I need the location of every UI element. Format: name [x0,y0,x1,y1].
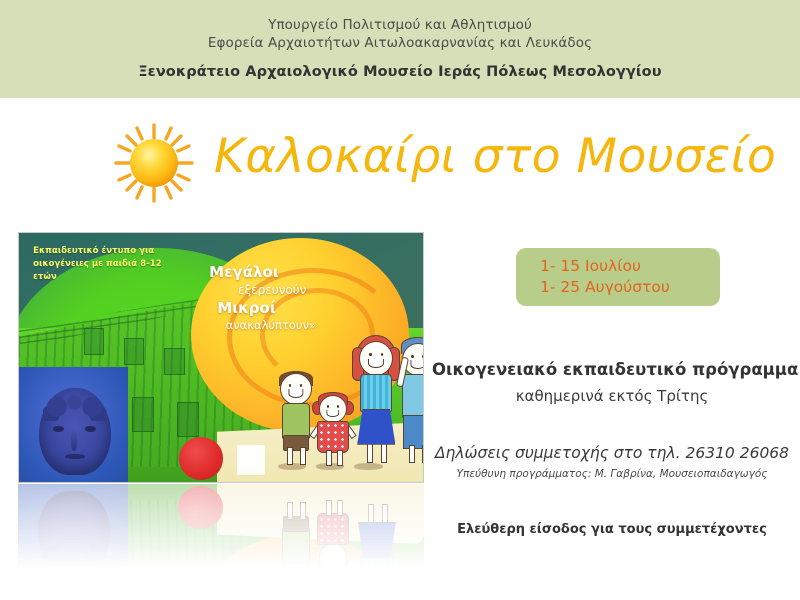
statue-nose [71,430,77,451]
poster-window [164,348,184,375]
figure-eye [300,384,303,387]
poster-slogan-line-1: Μεγάλοι [197,263,403,283]
dates-box: 1- 15 Ιουλίου 1- 25 Αυγούστου [516,248,720,306]
figure-head [359,341,393,376]
program-responsible: Υπεύθυνη προγράμματος: Μ. Γαβρίνα, Μουσε… [432,466,792,482]
poster-corner-text: Εκπαιδευτικό έντυπο για οικογένειες με π… [33,245,178,283]
figure-smile [326,410,339,418]
statue-eye [85,426,96,432]
contact-phone: Δηλώσεις συμμετοχής στο τηλ. 26310 26068 [432,442,792,464]
figure-leg [337,450,343,466]
poster-window [124,338,144,365]
poster-window [177,402,199,437]
figure-smile [410,360,424,369]
poster-figure-girl [314,395,352,467]
poster-figure-mother [350,333,402,465]
figure-body [282,403,310,439]
figure-smile [288,389,303,398]
program-subtitle: καθημερινά εκτός Τρίτης [432,384,792,408]
title-row: Καλοκαίρι στο Μουσείο [0,113,800,208]
free-entry-note: Ελεύθερη είσοδος για τους συμμετέχοντες [432,520,792,540]
poster-slogan-line-4: ανακαλύπτουν» [197,318,403,333]
figure-body [402,374,424,418]
date-line-july: 1- 15 Ιουλίου [540,256,720,277]
poster-artwork: Μεγάλοι εξερευνούν Μικροί ανακαλύπτουν» … [18,232,424,483]
statue-eye [53,426,64,432]
poster-slogan-line-3: Μικροί [197,299,403,319]
poster-red-ball [179,437,223,479]
figure-pants [403,415,424,449]
sun-icon [112,121,196,205]
ephorate-line: Εφορεία Αρχαιοτήτων Αιτωλοακαρνανίας και… [0,35,800,51]
figure-eye [289,384,292,387]
figure-dress [317,421,349,453]
poster-slogan-line-2: εξερευνούν [197,283,403,299]
figure-leg [287,447,293,465]
figure-eye [327,405,330,408]
statue-face [39,388,111,475]
poster-image: Μεγάλοι εξερευνούν Μικροί ανακαλύπτουν» … [18,232,424,483]
figure-leg [422,445,424,463]
figure-eye [422,355,424,358]
figure-head [280,373,312,405]
statue-mouth [65,454,85,458]
figure-leg [326,450,332,466]
statue-hair [43,385,106,422]
figure-leg [300,447,306,465]
header-band: Υπουργείο Πολιτισμού και Αθλητισμού Εφορ… [0,0,800,98]
poster-window [84,328,104,355]
poster-reflection-artwork [18,484,424,580]
info-block: Οικογενειακό εκπαιδευτικό πρόγραμμα καθη… [432,358,792,540]
figure-smile [368,359,384,369]
poster-reflection [18,484,424,580]
figure-eye [381,353,384,356]
figure-body [360,374,392,412]
poster-board-mark [237,445,265,475]
date-line-august: 1- 25 Αυγούστου [540,277,720,298]
poster-slogan: Μεγάλοι εξερευνούν Μικροί ανακαλύπτουν» [197,263,403,334]
figure-eye [369,353,372,356]
figure-head [319,395,347,423]
program-title: Οικογενειακό εκπαιδευτικό πρόγραμμα [432,358,792,382]
poster-statue-head [19,367,128,482]
poster-figure-boy [276,373,316,465]
museum-name: Ξενοκράτειο Αρχαιολογικό Μουσείο Ιεράς Π… [0,64,800,80]
figure-eye [411,355,414,358]
figure-skirt [357,409,395,445]
figure-eye [337,405,340,408]
poster-window [132,397,154,432]
figure-leg [409,445,415,463]
page-title: Καλοκαίρι στο Μουσείο [214,125,776,189]
ministry-line: Υπουργείο Πολιτισμού και Αθλητισμού [0,17,800,33]
